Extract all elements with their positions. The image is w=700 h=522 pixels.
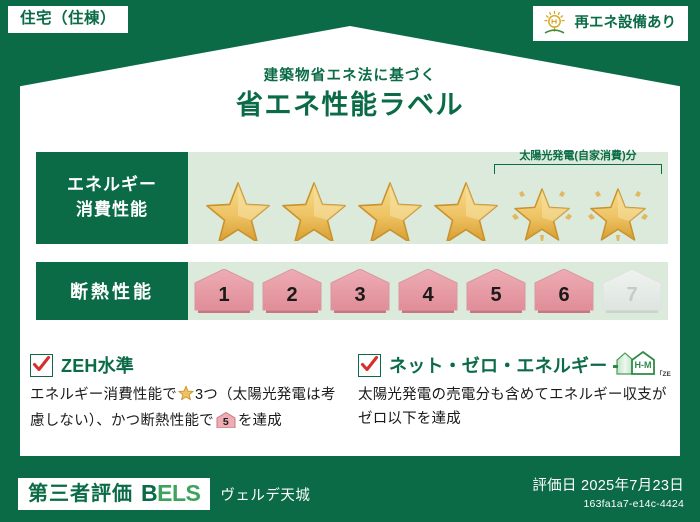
bels-wordmark: BELS <box>141 482 200 505</box>
insulation-level-number: 7 <box>626 285 637 313</box>
label-subtitle: 建築物省エネ法に基づく <box>0 64 700 85</box>
renewable-equipment-badge: 再エネ設備あり <box>533 6 689 41</box>
insulation-level-number: 1 <box>218 285 229 313</box>
energy-performance-label: 住宅（住棟） 再エネ設備あり 建築物省エネ法に基づ <box>0 0 700 522</box>
criterion-nze: ネット・ゼロ・エネルギー H-M 「ZEH-M」 太陽光発電の売電分も含めてエネ… <box>358 352 670 434</box>
criterion-zeh-text-3: を達成 <box>238 413 282 429</box>
property-name: ヴェルデ天城 <box>220 484 310 505</box>
evaluation-id: 163fa1a7-e14c-4424 <box>532 498 684 510</box>
criterion-nze-body: 太陽光発電の売電分も含めてエネルギー収支がゼロ以下を達成 <box>358 384 670 432</box>
insulation-performance-key: 断熱性能 <box>36 262 188 320</box>
insulation-level-badge: 2 <box>261 269 323 313</box>
insulation-level-number: 2 <box>286 285 297 313</box>
svg-text:「ZEH-M」: 「ZEH-M」 <box>656 369 671 378</box>
renewable-badge-label: 再エネ設備あり <box>575 16 677 31</box>
criterion-zeh-body: エネルギー消費性能で3つ（太陽光発電は考慮しない）、かつ断熱性能で5を達成 <box>30 384 342 434</box>
criterion-nze-header: ネット・ゼロ・エネルギー H-M 「ZEH-M」 <box>358 352 670 378</box>
svg-text:H-M: H-M <box>635 360 652 370</box>
criterion-zeh-header: ZEH水準 <box>30 352 342 378</box>
insulation-level-badge-inactive: 7 <box>601 269 663 313</box>
evaluation-info: 評価日 2025年7月23日 163fa1a7-e14c-4424 <box>532 474 684 510</box>
insulation-level-badge: 5 <box>465 269 527 313</box>
energy-performance-key: エネルギー 消費性能 <box>36 152 188 244</box>
insulation-level-badge: 4 <box>397 269 459 313</box>
insulation-level-badge: 6 <box>533 269 595 313</box>
insulation-level-number: 4 <box>422 285 433 313</box>
solar-annotation-label: 太陽光発電(自家消費)分 <box>494 150 662 162</box>
checkbox-checked-icon <box>358 354 381 377</box>
criteria-section: ZEH水準 エネルギー消費性能で3つ（太陽光発電は考慮しない）、かつ断熱性能で5… <box>30 352 670 434</box>
energy-performance-row: エネルギー 消費性能 太陽光発電(自家消費)分 <box>36 152 668 244</box>
inline-star-icon <box>178 385 194 410</box>
inline-insulation-badge-icon: 5 <box>216 412 236 428</box>
rating-star <box>355 169 425 241</box>
evaluation-date: 評価日 2025年7月23日 <box>532 474 684 495</box>
rating-star-solar <box>507 169 577 241</box>
third-party-evaluation-label: 第三者評価 <box>28 484 133 504</box>
rating-star-solar <box>583 169 653 241</box>
criterion-nze-title: ネット・ゼロ・エネルギー <box>389 352 607 378</box>
bels-footer: 第三者評価 BELS ヴェルデ天城 <box>18 478 310 510</box>
insulation-level-number: 3 <box>354 285 365 313</box>
inline-badge-value: 5 <box>216 417 236 428</box>
checkbox-checked-icon <box>30 354 53 377</box>
energy-key-line1: エネルギー <box>67 173 157 198</box>
rating-star <box>279 169 349 241</box>
page-title: 省エネ性能ラベル <box>0 83 700 122</box>
energy-performance-value: 太陽光発電(自家消費)分 <box>188 152 668 244</box>
house-type-tag: 住宅（住棟） <box>8 6 128 33</box>
solar-sun-icon <box>541 10 568 36</box>
zeh-m-logo: H-M 「ZEH-M」 <box>613 349 671 381</box>
insulation-level-number: 6 <box>558 285 569 313</box>
insulation-performance-value: 1 2 3 <box>188 262 668 320</box>
bels-letters-els: ELS <box>157 480 200 506</box>
rating-star <box>431 169 501 241</box>
bels-letter-b: B <box>141 480 157 506</box>
energy-key-line2: 消費性能 <box>76 198 148 223</box>
insulation-level-badge: 3 <box>329 269 391 313</box>
insulation-level-badge: 1 <box>193 269 255 313</box>
insulation-level-number: 5 <box>490 285 501 313</box>
criterion-zeh-title: ZEH水準 <box>61 352 134 378</box>
star-rating <box>188 169 668 241</box>
criterion-zeh: ZEH水準 エネルギー消費性能で3つ（太陽光発電は考慮しない）、かつ断熱性能で5… <box>30 352 342 434</box>
bels-logo-box: 第三者評価 BELS <box>18 478 210 510</box>
rating-star <box>203 169 273 241</box>
criterion-zeh-text-1: エネルギー消費性能で <box>30 387 177 403</box>
insulation-performance-row: 断熱性能 <box>36 262 668 320</box>
insulation-level-scale: 1 2 3 <box>188 262 668 320</box>
